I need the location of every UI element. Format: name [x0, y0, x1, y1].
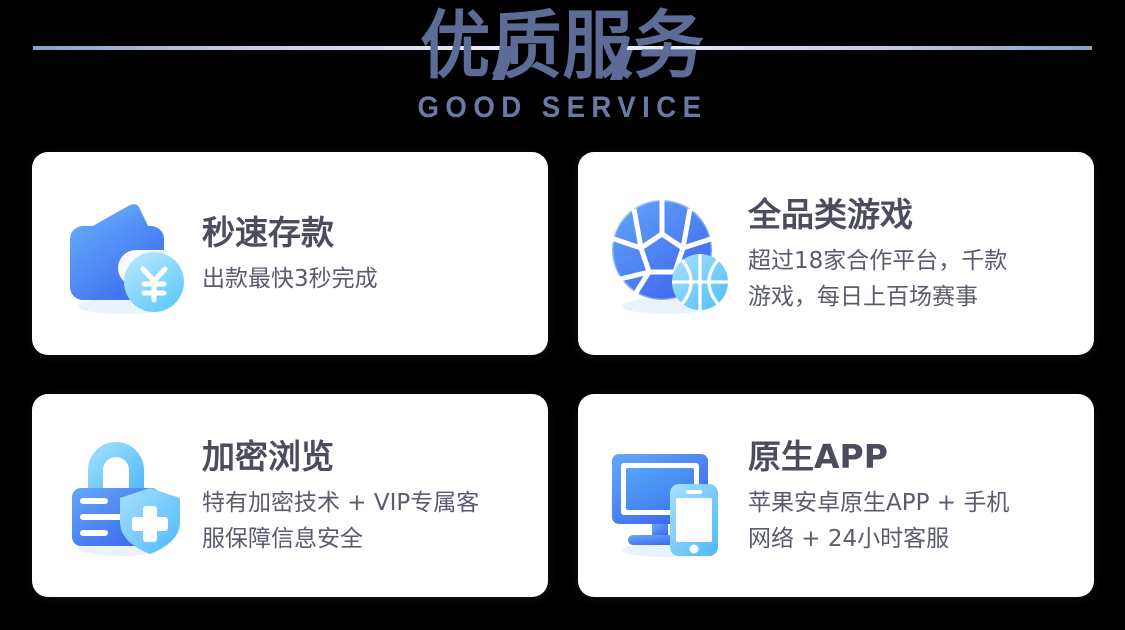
card-desc-line: 超过18家合作平台，千款 [748, 243, 1076, 279]
card-title: 原生APP [748, 435, 1076, 479]
card-desc-line: 出款最快3秒完成 [202, 261, 530, 297]
wallet-yen-icon [58, 188, 190, 320]
card-text-block: 加密浏览 特有加密技术 + VIP专属客 服保障信息安全 [202, 435, 530, 557]
feature-card-encryption[interactable]: 加密浏览 特有加密技术 + VIP专属客 服保障信息安全 [32, 394, 548, 597]
feature-card-deposit[interactable]: 秒速存款 出款最快3秒完成 [32, 152, 548, 355]
feature-card-grid: 秒速存款 出款最快3秒完成 [32, 152, 1094, 597]
feature-card-games[interactable]: 全品类游戏 超过18家合作平台，千款 游戏，每日上百场赛事 [578, 152, 1094, 355]
card-desc-line: 苹果安卓原生APP + 手机 [748, 485, 1076, 521]
feature-card-native-app[interactable]: 原生APP 苹果安卓原生APP + 手机 网络 + 24小时客服 [578, 394, 1094, 597]
soccer-basketball-icon [604, 188, 736, 320]
title-block: 优质服务 GOOD SERVICE [0, 0, 1125, 126]
page-header: 优质服务 GOOD SERVICE [0, 0, 1125, 146]
card-text-block: 秒速存款 出款最快3秒完成 [202, 211, 530, 297]
card-title: 全品类游戏 [748, 193, 1076, 237]
card-desc-line: 网络 + 24小时客服 [748, 521, 1076, 557]
card-desc-line: 服保障信息安全 [202, 521, 530, 557]
card-desc-line: 游戏，每日上百场赛事 [748, 279, 1076, 315]
card-text-block: 原生APP 苹果安卓原生APP + 手机 网络 + 24小时客服 [748, 435, 1076, 557]
page-subtitle: GOOD SERVICE [45, 90, 1080, 126]
card-title: 秒速存款 [202, 211, 530, 255]
card-title: 加密浏览 [202, 435, 530, 479]
page-title: 优质服务 [28, 0, 1097, 92]
monitor-phone-icon [604, 430, 736, 562]
lock-shield-icon [58, 430, 190, 562]
card-desc-line: 特有加密技术 + VIP专属客 [202, 485, 530, 521]
card-text-block: 全品类游戏 超过18家合作平台，千款 游戏，每日上百场赛事 [748, 193, 1076, 315]
